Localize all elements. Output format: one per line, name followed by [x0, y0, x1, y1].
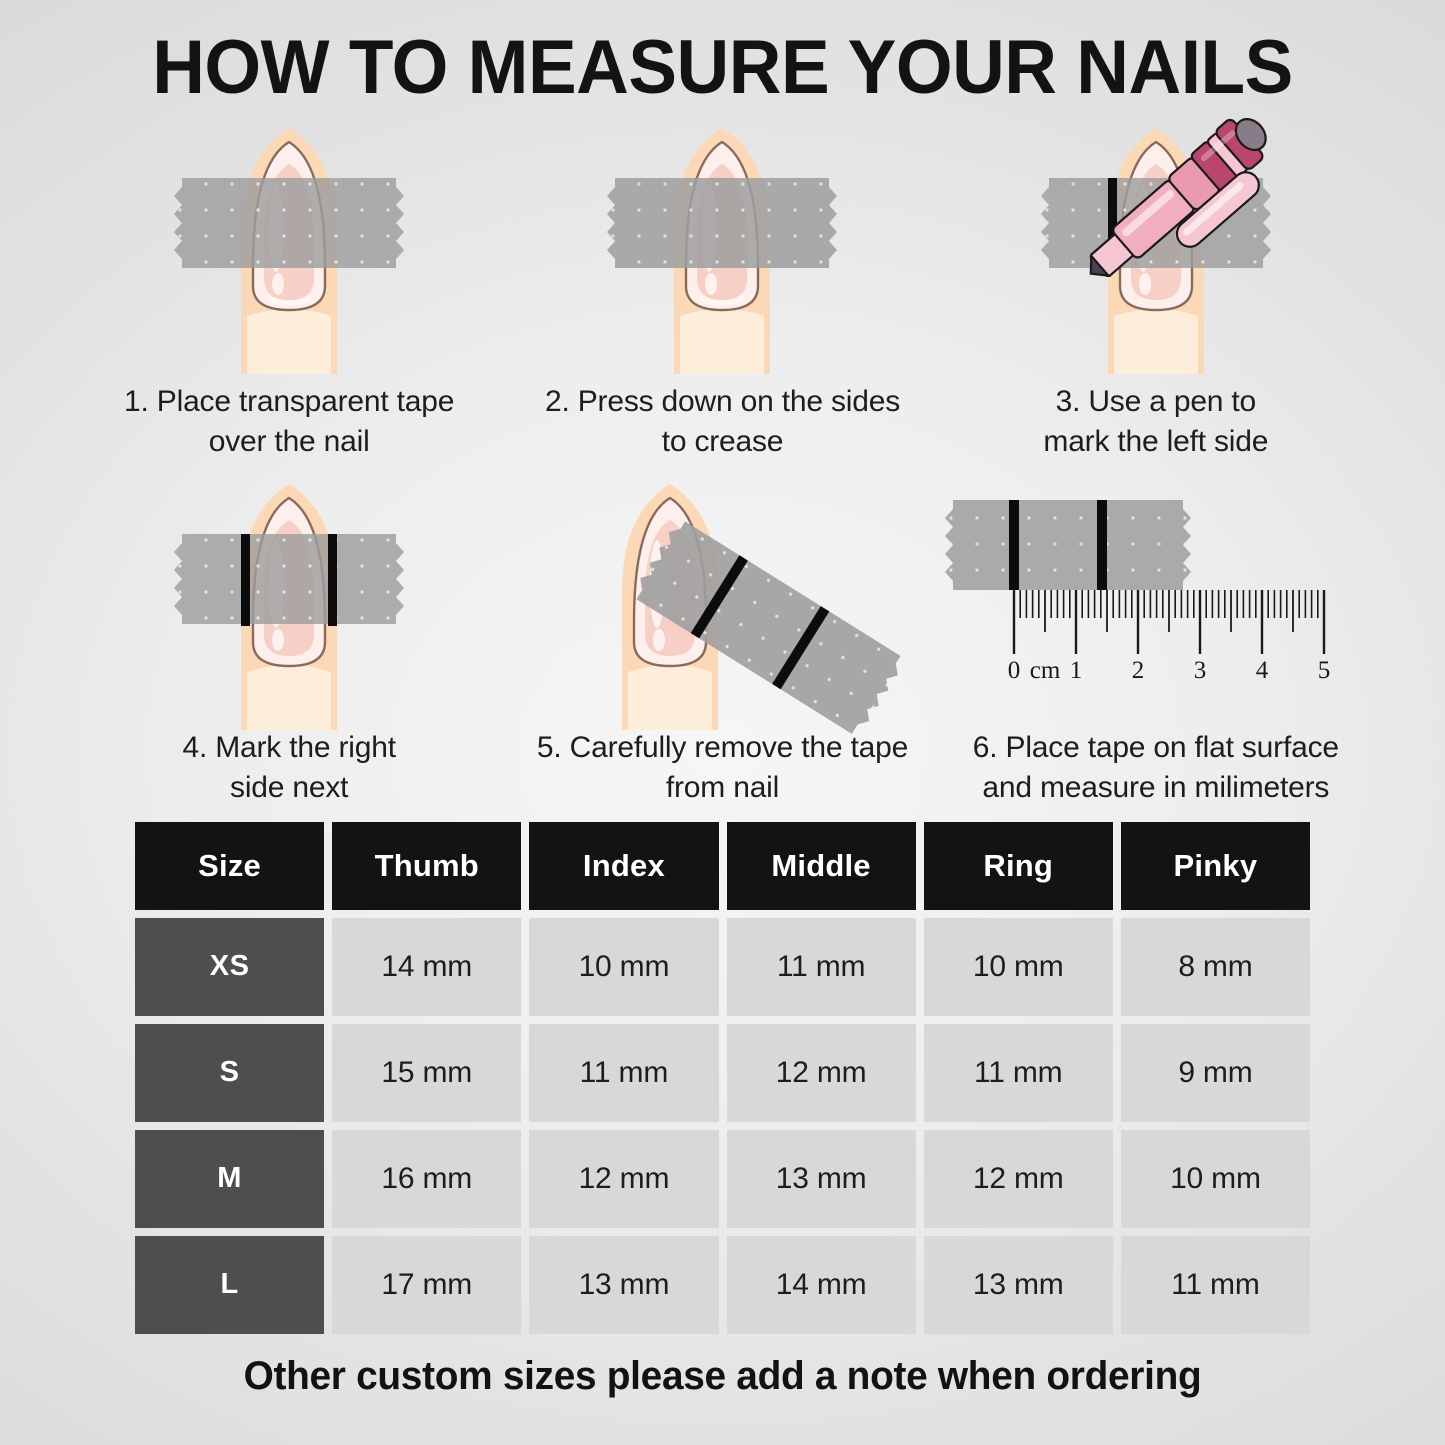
pen-icon: [1059, 110, 1269, 310]
table-header-pinky: Pinky: [1121, 822, 1310, 910]
step-3-caption: 3. Use a pen to mark the left side: [1035, 382, 1276, 462]
table-cell: 14 mm: [332, 918, 521, 1016]
table-cell: 13 mm: [727, 1130, 916, 1228]
table-row: M: [135, 1130, 324, 1228]
table-cell: 12 mm: [529, 1130, 718, 1228]
step-5-caption: 5. Carefully remove the tape from nail: [529, 728, 916, 808]
step-6-caption: 6. Place tape on flat surface and measur…: [965, 728, 1347, 808]
table-header-ring: Ring: [924, 822, 1113, 910]
ruler-icon: 0 cm 1 2 3 4 5: [945, 486, 1355, 686]
table-header-middle: Middle: [727, 822, 916, 910]
footer-note: Other custom sizes please add a note whe…: [22, 1354, 1424, 1399]
table-cell: 12 mm: [924, 1130, 1113, 1228]
step-2-illustration: [506, 116, 939, 376]
tape-strip-icon: [174, 534, 404, 624]
step-3: 3. Use a pen to mark the left side: [939, 116, 1372, 462]
step-5-illustration: [506, 472, 939, 722]
ruler-unit-label: cm: [1030, 657, 1061, 684]
step-4: 4. Mark the right side next: [73, 472, 506, 808]
step-4-illustration: [73, 472, 506, 722]
step-5: 5. Carefully remove the tape from nail: [506, 472, 939, 808]
step-4-caption: 4. Mark the right side next: [174, 728, 403, 808]
table-cell: 9 mm: [1121, 1024, 1310, 1122]
table-cell: 12 mm: [727, 1024, 916, 1122]
table-cell: 10 mm: [1121, 1130, 1310, 1228]
step-3-illustration: [939, 116, 1372, 376]
table-cell: 14 mm: [727, 1236, 916, 1334]
step-6-illustration: 0 cm 1 2 3 4 5: [939, 472, 1372, 722]
table-cell: 11 mm: [924, 1024, 1113, 1122]
tape-strip-icon: [174, 178, 404, 268]
table-cell: 16 mm: [332, 1130, 521, 1228]
table-cell: 10 mm: [924, 918, 1113, 1016]
ruler-tick-1: 1: [1070, 657, 1083, 684]
steps-row-2: 4. Mark the right side next: [73, 472, 1373, 808]
table-cell: 17 mm: [332, 1236, 521, 1334]
table-header-thumb: Thumb: [332, 822, 521, 910]
table-cell: 8 mm: [1121, 918, 1310, 1016]
table-row: L: [135, 1236, 324, 1334]
page-title: HOW TO MEASURE YOUR NAILS: [29, 0, 1416, 106]
left-mark: [241, 534, 250, 626]
table-row: S: [135, 1024, 324, 1122]
tape-strip-creased-icon: [607, 178, 837, 268]
table-cell: 11 mm: [1121, 1236, 1310, 1334]
size-chart-table: Size Thumb Index Middle Ring Pinky XS 14…: [135, 822, 1310, 1334]
step-1-illustration: [73, 116, 506, 376]
step-1: 1. Place transparent tape over the nail: [73, 116, 506, 462]
right-mark: [328, 534, 337, 626]
ruler-tick-4: 4: [1256, 657, 1269, 684]
table-row: XS: [135, 918, 324, 1016]
table-header-size: Size: [135, 822, 324, 910]
table-cell: 11 mm: [727, 918, 916, 1016]
step-6: 0 cm 1 2 3 4 5 6. Place tape on flat sur…: [939, 472, 1372, 808]
ruler-tick-0: 0: [1008, 657, 1021, 684]
ruler-tick-3: 3: [1194, 657, 1207, 684]
table-cell: 10 mm: [529, 918, 718, 1016]
step-1-caption: 1. Place transparent tape over the nail: [116, 382, 462, 462]
table-header-index: Index: [529, 822, 718, 910]
table-cell: 13 mm: [529, 1236, 718, 1334]
ruler-tick-5: 5: [1318, 657, 1331, 684]
steps-row-1: 1. Place transparent tape over the nail: [73, 116, 1373, 462]
table-cell: 13 mm: [924, 1236, 1113, 1334]
table-cell: 11 mm: [529, 1024, 718, 1122]
step-2: 2. Press down on the sides to crease: [506, 116, 939, 462]
ruler-tick-2: 2: [1132, 657, 1145, 684]
step-2-caption: 2. Press down on the sides to crease: [537, 382, 908, 462]
table-cell: 15 mm: [332, 1024, 521, 1122]
